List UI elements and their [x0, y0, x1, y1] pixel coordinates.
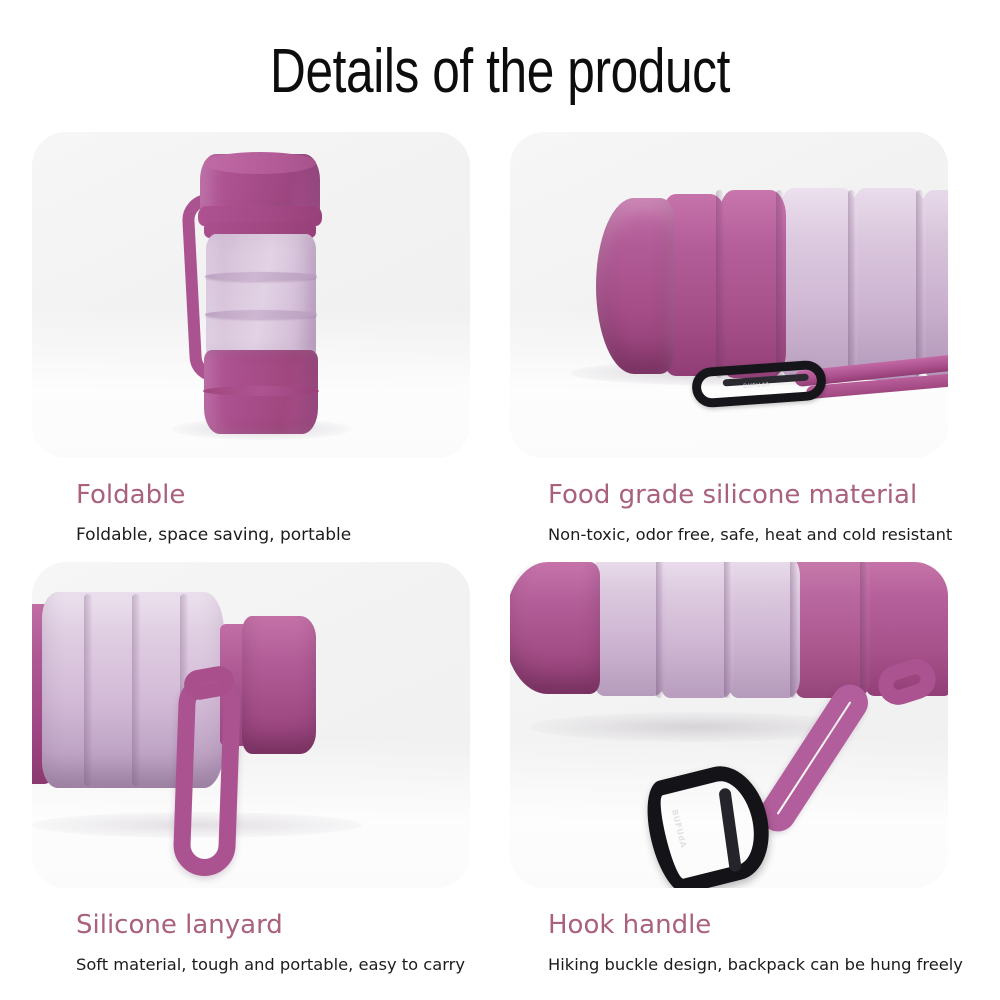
carabiner-brand-text: BUFUdA [670, 809, 688, 849]
bottle-rib [84, 594, 92, 786]
feature-description-foldable: Foldable, space saving, portable [76, 524, 470, 546]
bottle-groove [790, 562, 797, 698]
feature-title-foldable: Foldable [76, 480, 470, 510]
bottle-body-lavender [206, 234, 316, 356]
feature-card-lanyard[interactable]: Silicone lanyard Soft material, tough an… [32, 562, 470, 976]
bottle-groove [776, 190, 783, 378]
bottle-cap-top [204, 152, 316, 174]
bottle-ring [205, 272, 317, 281]
bottle-section-light [852, 188, 926, 380]
carabiner-brand-text: BUFUdA [743, 381, 770, 390]
product-photo-hook: BUFUdA [510, 562, 948, 888]
bottle-rib [132, 594, 140, 786]
product-photo-material: BUFUdA [510, 132, 948, 458]
feature-title-material: Food grade silicone material [548, 480, 948, 510]
bottle-section-dark [794, 562, 870, 698]
bottle-horizontal-hook: BUFUdA [510, 562, 948, 706]
bottle-cap [242, 616, 316, 754]
bottle-groove [716, 190, 723, 378]
bottle-base-ring [203, 386, 319, 396]
feature-description-hook: Hiking buckle design, backpack can be hu… [548, 954, 948, 976]
bottle-groove [724, 562, 731, 698]
bottle-groove [848, 190, 855, 378]
product-photo-foldable [32, 132, 470, 458]
feature-card-hook[interactable]: BUFUdA Hook handle Hiking buckle design,… [510, 562, 948, 976]
bottle-collapsed-upright [194, 154, 326, 432]
product-photo-lanyard [32, 562, 470, 888]
bottle-ring [205, 310, 317, 319]
bottle-section-light [780, 188, 858, 380]
feature-title-hook: Hook handle [548, 910, 948, 940]
bottle-section-light [660, 562, 734, 698]
bottle-groove [916, 190, 923, 378]
bottle-groove [860, 562, 867, 698]
feature-card-material[interactable]: BUFUdA Food grade silicone material Non-… [510, 132, 948, 546]
bottle-cap-end [596, 198, 674, 374]
bottle-groove [656, 562, 663, 698]
carabiner-gate [718, 788, 742, 873]
lanyard-loop [172, 673, 241, 877]
feature-description-material: Non-toxic, odor free, safe, heat and col… [548, 524, 948, 546]
bottle-horizontal: BUFUdA [596, 188, 948, 384]
page-title: Details of the product [100, 36, 900, 108]
feature-title-lanyard: Silicone lanyard [76, 910, 470, 940]
feature-description-lanyard: Soft material, tough and portable, easy … [76, 954, 470, 976]
bottle-closeup [32, 590, 348, 790]
feature-card-foldable[interactable]: Foldable Foldable, space saving, portabl… [32, 132, 470, 546]
bottle-cap-end [510, 562, 600, 694]
